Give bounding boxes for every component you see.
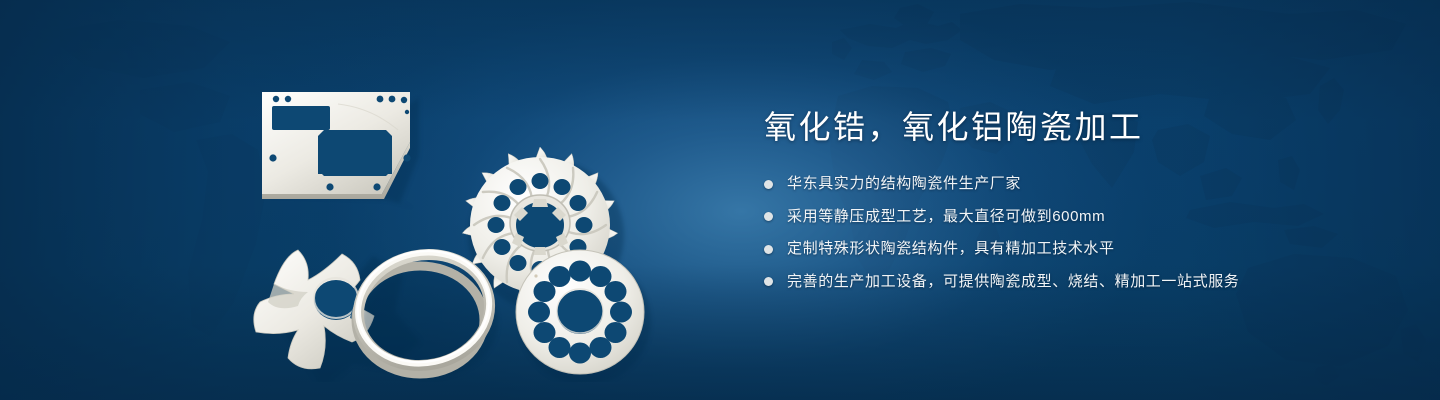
bullet-dot-icon [764, 180, 773, 189]
feature-text: 定制特殊形状陶瓷结构件，具有精加工技术水平 [787, 238, 1115, 261]
bullet-dot-icon [764, 245, 773, 254]
feature-text: 采用等静压成型工艺，最大直径可做到600mm [787, 206, 1105, 229]
feature-text: 完善的生产加工设备，可提供陶瓷成型、烧结、精加工一站式服务 [787, 271, 1239, 294]
ceramic-mounting-plate [262, 92, 419, 208]
list-item: 定制特殊形状陶瓷结构件，具有精加工技术水平 [764, 238, 1384, 261]
ceramic-products-image [232, 42, 684, 382]
feature-list: 华东具实力的结构陶瓷件生产厂家 采用等静压成型工艺，最大直径可做到600mm 定… [764, 173, 1384, 293]
ceramic-valve-plate [516, 250, 651, 382]
bullet-dot-icon [764, 277, 773, 286]
ceramic-processing-banner: 氧化锆，氧化铝陶瓷加工 华东具实力的结构陶瓷件生产厂家 采用等静压成型工艺，最大… [0, 0, 1440, 400]
bullet-dot-icon [764, 212, 773, 221]
list-item: 华东具实力的结构陶瓷件生产厂家 [764, 173, 1384, 196]
feature-text: 华东具实力的结构陶瓷件生产厂家 [787, 173, 1021, 196]
list-item: 采用等静压成型工艺，最大直径可做到600mm [764, 206, 1384, 229]
banner-copy: 氧化锆，氧化铝陶瓷加工 华东具实力的结构陶瓷件生产厂家 采用等静压成型工艺，最大… [764, 108, 1384, 293]
page-title: 氧化锆，氧化铝陶瓷加工 [764, 108, 1384, 147]
list-item: 完善的生产加工设备，可提供陶瓷成型、烧结、精加工一站式服务 [764, 271, 1384, 294]
